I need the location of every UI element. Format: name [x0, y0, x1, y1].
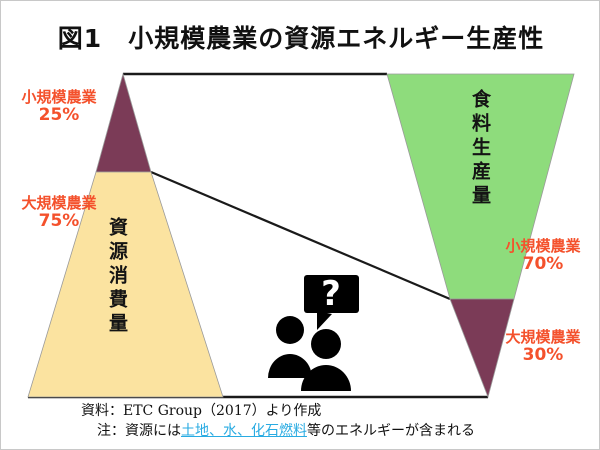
footnote-source-text: ETC Group（2017）より作成 [123, 403, 321, 419]
left-pyramid-axis-label: 資源消費量 [104, 217, 131, 337]
label-right-largescale-value: 30% [487, 346, 599, 365]
svg-text:?: ? [321, 274, 341, 314]
footnote-note-suffix: 等のエネルギーが含まれる [307, 423, 475, 439]
footnote-source-label: 資料： [81, 403, 123, 419]
label-right-smallscale: 小規模農業 70% [487, 238, 599, 274]
footnotes: 資料：ETC Group（2017）より作成 注：資源には土地、水、化石燃料等の… [1, 401, 600, 442]
people-question-icon: ? [268, 274, 359, 391]
label-right-largescale: 大規模農業 30% [487, 329, 599, 365]
label-left-largescale: 大規模農業 75% [3, 195, 115, 231]
footnote-note-prefix: 資源には [125, 423, 181, 439]
label-left-smallscale: 小規模農業 25% [3, 89, 115, 125]
footnote-note-highlight: 土地、水、化石燃料 [181, 423, 307, 439]
footnote-note-label: 注： [97, 423, 125, 439]
label-right-largescale-name: 大規模農業 [487, 329, 599, 346]
footnote-source: 資料：ETC Group（2017）より作成 [1, 401, 600, 421]
label-right-smallscale-value: 70% [487, 255, 599, 274]
label-left-smallscale-name: 小規模農業 [3, 89, 115, 106]
label-left-largescale-name: 大規模農業 [3, 195, 115, 212]
label-left-smallscale-value: 25% [3, 106, 115, 125]
label-right-smallscale-name: 小規模農業 [487, 238, 599, 255]
right-pyramid-axis-label: 食料生産量 [467, 89, 494, 209]
label-left-largescale-value: 75% [3, 212, 115, 231]
footnote-note: 注：資源には土地、水、化石燃料等のエネルギーが含まれる [1, 421, 600, 441]
figure-container: 図1 小規模農業の資源エネルギー生産性 ? [0, 0, 600, 450]
